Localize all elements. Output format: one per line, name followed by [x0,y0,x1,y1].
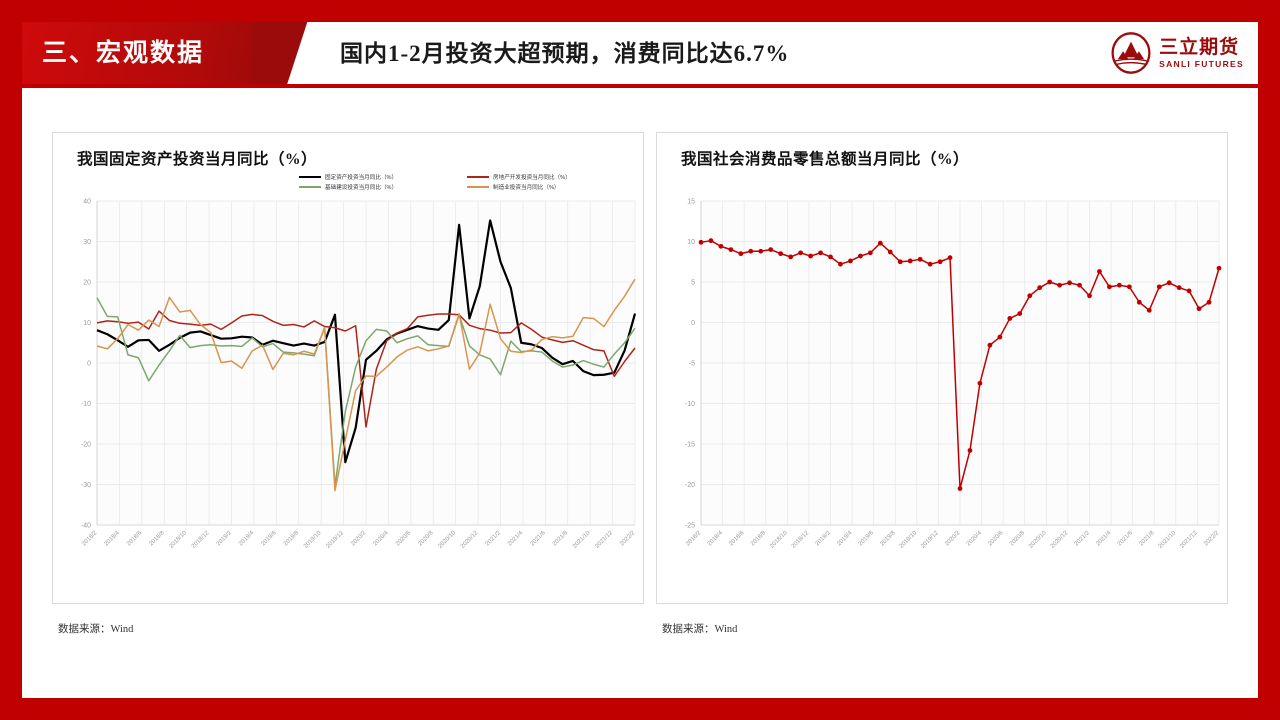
chart-panel-investment: 我国固定资产投资当月同比（%） 固定资产投资当月同比（%）房地产开发投资当月同比… [52,132,644,642]
chart-title-investment: 我国固定资产投资当月同比（%） [77,147,317,169]
svg-text:-40: -40 [81,523,91,530]
legend-item-3: 制造业投资当月同比（%） [467,183,629,191]
svg-text:20: 20 [83,280,91,287]
chart-legend-investment: 固定资产投资当月同比（%）房地产开发投资当月同比（%）基础建设投资当月同比（%）… [299,173,629,191]
svg-text:2019/4: 2019/4 [238,530,256,548]
slide-header: 三、宏观数据 国内1-2月投资大超预期，消费同比达6.7% 三立期货 SANLI… [22,22,1258,84]
svg-text:-10: -10 [81,401,91,408]
svg-text:2020/6: 2020/6 [987,530,1005,548]
legend-label: 基础建设投资当月同比（%） [325,183,397,191]
svg-text:40: 40 [83,199,91,206]
slide-content: 三、宏观数据 国内1-2月投资大超预期，消费同比达6.7% 三立期货 SANLI… [22,22,1258,698]
svg-text:2020/10: 2020/10 [1028,530,1048,550]
legend-swatch-icon [299,176,321,178]
svg-text:2021/8: 2021/8 [1138,530,1156,548]
source-note-retail: 数据来源：Wind [662,621,737,636]
svg-text:2022/2: 2022/2 [1203,530,1221,548]
svg-text:2019/12: 2019/12 [325,530,345,550]
svg-text:2019/12: 2019/12 [920,530,940,550]
svg-text:2018/2: 2018/2 [685,530,703,548]
svg-text:-10: -10 [685,401,695,408]
svg-text:2018/12: 2018/12 [191,530,211,550]
legend-item-2: 基础建设投资当月同比（%） [299,183,461,191]
svg-text:2020/4: 2020/4 [966,530,984,548]
svg-text:2020/2: 2020/2 [350,530,368,548]
logo-name-cn: 三立期货 [1159,38,1244,57]
svg-text:2020/4: 2020/4 [373,530,391,548]
section-label: 三、宏观数据 [42,34,272,74]
chart-plot-retail: 151050-5-10-15-20-252018/22018/42018/620… [657,193,1227,603]
svg-text:2020/8: 2020/8 [1009,530,1027,548]
chart-frame-investment: 我国固定资产投资当月同比（%） 固定资产投资当月同比（%）房地产开发投资当月同比… [52,132,644,604]
svg-text:2021/12: 2021/12 [1179,530,1199,550]
svg-text:0: 0 [87,361,91,368]
svg-text:5: 5 [691,280,695,287]
chart-panel-retail: 我国社会消费品零售总额当月同比（%） 151050-5-10-15-20-252… [656,132,1228,642]
svg-text:-30: -30 [81,482,91,489]
svg-text:2020/8: 2020/8 [417,530,435,548]
legend-swatch-icon [299,186,321,188]
svg-text:10: 10 [687,239,695,246]
svg-text:2021/4: 2021/4 [507,530,525,548]
svg-text:2020/10: 2020/10 [437,530,457,550]
logo-name-en: SANLI FUTURES [1159,60,1244,69]
svg-text:2019/8: 2019/8 [283,530,301,548]
svg-text:-5: -5 [689,361,695,368]
source-note-investment: 数据来源：Wind [58,621,133,636]
chart-frame-retail: 我国社会消费品零售总额当月同比（%） 151050-5-10-15-20-252… [656,132,1228,604]
svg-text:2018/4: 2018/4 [707,530,725,548]
svg-text:-15: -15 [685,442,695,449]
svg-text:2021/4: 2021/4 [1095,530,1113,548]
svg-text:2018/6: 2018/6 [126,530,144,548]
legend-swatch-icon [467,186,489,188]
svg-text:2021/6: 2021/6 [530,530,548,548]
svg-text:2018/10: 2018/10 [168,530,188,550]
svg-text:15: 15 [687,199,695,206]
svg-text:-25: -25 [685,523,695,530]
svg-text:2019/10: 2019/10 [303,530,323,550]
legend-label: 房地产开发投资当月同比（%） [493,173,571,181]
legend-item-1: 房地产开发投资当月同比（%） [467,173,629,181]
svg-text:2018/6: 2018/6 [728,530,746,548]
page-title: 国内1-2月投资大超预期，消费同比达6.7% [340,34,789,74]
svg-text:-20: -20 [81,442,91,449]
chart-plot-investment: 403020100-10-20-30-402018/22018/42018/62… [53,193,643,603]
legend-swatch-icon [467,176,489,178]
svg-text:2021/10: 2021/10 [572,530,592,550]
chart-title-retail: 我国社会消费品零售总额当月同比（%） [681,147,969,169]
svg-text:2018/8: 2018/8 [750,530,768,548]
svg-text:2018/12: 2018/12 [791,530,811,550]
svg-text:2018/2: 2018/2 [81,530,99,548]
svg-text:30: 30 [83,239,91,246]
svg-text:2018/8: 2018/8 [148,530,166,548]
svg-text:2022/2: 2022/2 [619,530,637,548]
svg-text:2019/6: 2019/6 [261,530,279,548]
slide: 三、宏观数据 国内1-2月投资大超预期，消费同比达6.7% 三立期货 SANLI… [0,0,1280,720]
svg-text:2019/6: 2019/6 [858,530,876,548]
svg-text:2020/12: 2020/12 [460,530,480,550]
svg-text:2021/12: 2021/12 [594,530,614,550]
svg-text:2018/10: 2018/10 [769,530,789,550]
svg-text:2020/2: 2020/2 [944,530,962,548]
svg-text:2021/10: 2021/10 [1158,530,1178,550]
svg-text:2021/6: 2021/6 [1117,530,1135,548]
mountain-logo-icon [1110,32,1152,74]
svg-text:2021/8: 2021/8 [552,530,570,548]
brand-logo: 三立期货 SANLI FUTURES [1110,30,1244,76]
svg-text:2020/6: 2020/6 [395,530,413,548]
svg-text:0: 0 [691,320,695,327]
svg-text:2019/8: 2019/8 [879,530,897,548]
svg-text:2019/2: 2019/2 [216,530,234,548]
svg-text:2019/2: 2019/2 [815,530,833,548]
svg-text:10: 10 [83,320,91,327]
legend-label: 制造业投资当月同比（%） [493,183,560,191]
svg-text:2019/4: 2019/4 [836,530,854,548]
header-rule-gap [22,88,1258,90]
legend-item-0: 固定资产投资当月同比（%） [299,173,461,181]
legend-label: 固定资产投资当月同比（%） [325,173,397,181]
svg-text:2021/2: 2021/2 [1074,530,1092,548]
svg-text:2018/4: 2018/4 [104,530,122,548]
svg-text:2019/10: 2019/10 [899,530,919,550]
svg-text:2021/2: 2021/2 [485,530,503,548]
svg-text:-20: -20 [685,482,695,489]
logo-text: 三立期货 SANLI FUTURES [1159,38,1244,69]
svg-text:2020/12: 2020/12 [1050,530,1070,550]
